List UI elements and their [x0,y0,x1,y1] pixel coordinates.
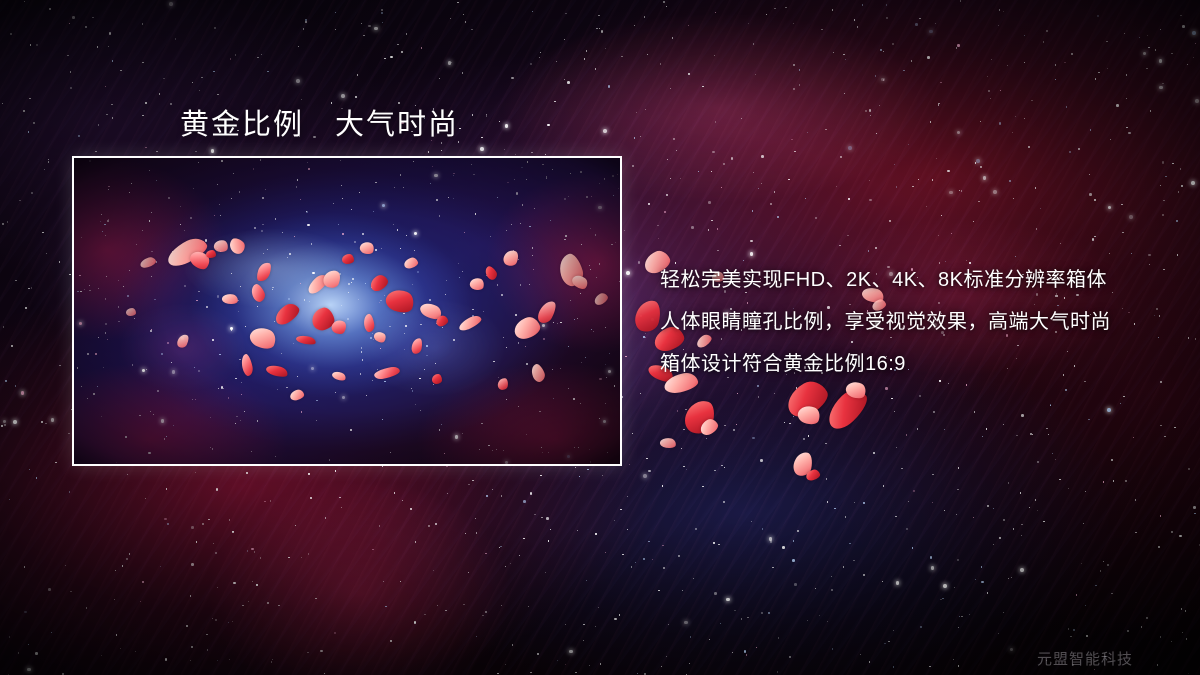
presentation-slide: 黄金比例 大气时尚 轻松完美实现FHD、2K、4K、8K标准分辨率箱体 人体眼睛… [0,0,1200,675]
page-title: 黄金比例 大气时尚 [180,101,459,143]
body-line-2: 人体眼睛瞳孔比例，享受视觉效果，高端大气时尚 [660,301,1180,343]
nebula-preview-panel[interactable] [72,156,622,466]
body-line-1: 轻松完美实现FHD、2K、4K、8K标准分辨率箱体 [660,259,1180,301]
watermark: 元盟智能科技 [1037,648,1133,669]
body-line-3: 箱体设计符合黄金比例16:9 [660,343,1180,385]
panel-vignette [74,158,620,464]
body-copy-block: 轻松完美实现FHD、2K、4K、8K标准分辨率箱体 人体眼睛瞳孔比例，享受视觉效… [660,259,1180,385]
